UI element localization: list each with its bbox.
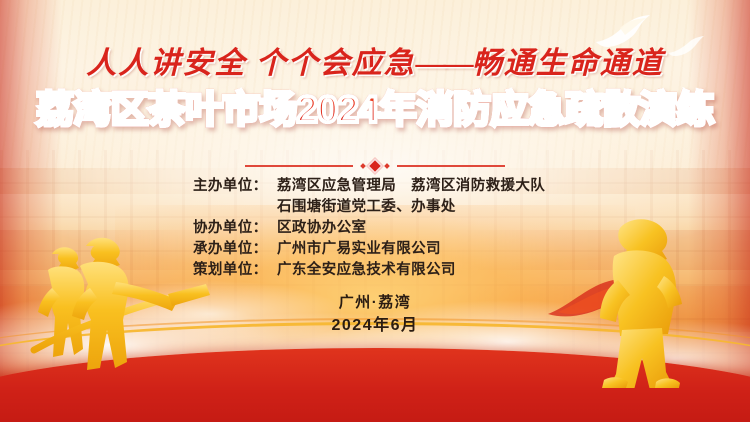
organizer-value: 广州市广易实业有限公司 [277,239,557,260]
divider-line-right [397,165,505,167]
headline-block: 人人讲安全 个个会应急——畅通生命通道 荔湾区茶叶市场2024年消防应急疏散演练 [0,46,750,132]
ornament-dot-left [360,163,366,169]
organizer-value: 石围塘街道党工委、办事处 [277,197,557,218]
organizer-value: 区政协办公室 [277,218,557,239]
organizer-row: 主办单位： 荔湾区应急管理局 荔湾区消防救援大队 [193,176,557,197]
decorative-divider [0,160,750,172]
tagline-part-2: 畅通生命通道 [472,47,664,80]
organizer-label: 主办单位： [193,176,277,197]
organizer-label: 策划单位： [193,260,277,281]
tagline-dash: —— [416,47,472,80]
organizer-row: 策划单位： 广东全安应急技术有限公司 [193,260,557,281]
organizer-label: 协办单位： [193,218,277,239]
diamond-ornament-icon [361,160,389,172]
page-title: 荔湾区茶叶市场2024年消防应急疏散演练 [0,88,750,132]
ornament-diamond [367,158,384,175]
divider-line-left [245,165,353,167]
organizer-list: 主办单位： 荔湾区应急管理局 荔湾区消防救援大队 主办单位： 石围塘街道党工委、… [0,176,750,281]
poster-tagline: 人人讲安全 个个会应急——畅通生命通道 [0,46,750,82]
organizer-label: 承办单位： [193,239,277,260]
organizer-row: 承办单位： 广州市广易实业有限公司 [193,239,557,260]
footer-meta: 广州·荔湾 2024年6月 [0,292,750,338]
organizer-row: 协办单位： 区政协办公室 [193,218,557,239]
tagline-part-1: 人人讲安全 个个会应急 [86,47,416,80]
event-date: 2024年6月 [0,314,750,338]
ornament-dot-right [384,163,390,169]
poster-canvas: 人人讲安全 个个会应急——畅通生命通道 荔湾区茶叶市场2024年消防应急疏散演练… [0,0,750,422]
organizer-row: 主办单位： 石围塘街道党工委、办事处 [193,197,557,218]
event-location: 广州·荔湾 [0,292,750,314]
organizer-value: 荔湾区应急管理局 荔湾区消防救援大队 [277,176,557,197]
organizer-value: 广东全安应急技术有限公司 [277,260,557,281]
